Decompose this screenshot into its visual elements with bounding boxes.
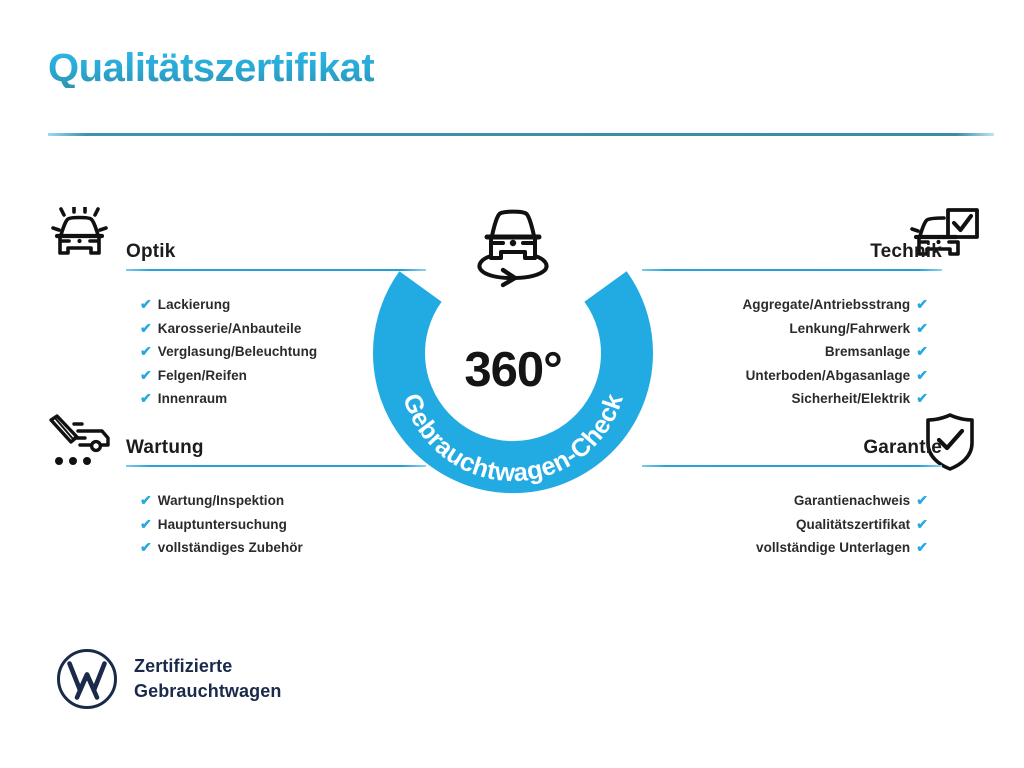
list-item-label: Karosserie/Anbauteile	[158, 321, 302, 336]
section-technik: Technik Aggregate/Antriebsstrang✔ Lenkun…	[642, 239, 942, 411]
list-item-label: Wartung/Inspektion	[158, 493, 284, 508]
vw-wordmark-line1: Zertifizierte	[134, 654, 281, 679]
vw-brand-logo: Zertifizierte Gebrauchtwagen	[56, 648, 281, 710]
list-item: Lenkung/Fahrwerk✔	[642, 317, 942, 341]
section-garantie-list: Garantienachweis✔ Qualitätszertifikat✔ v…	[642, 489, 942, 560]
center-badge: Gebrauchtwagen-Check 360°	[372, 196, 654, 496]
list-item-label: Aggregate/Antriebsstrang	[742, 297, 910, 312]
list-item-label: Verglasung/Beleuchtung	[158, 344, 317, 359]
check-icon: ✔	[140, 536, 152, 560]
check-icon: ✔	[916, 317, 928, 341]
section-technik-list: Aggregate/Antriebsstrang✔ Lenkung/Fahrwe…	[642, 293, 942, 411]
list-item-label: Innenraum	[158, 391, 227, 406]
list-item-label: Lackierung	[158, 297, 231, 312]
list-item: Unterboden/Abgasanlage✔	[642, 364, 942, 388]
page-title: Qualitätszertifikat	[48, 48, 374, 88]
list-item: Garantienachweis✔	[642, 489, 942, 513]
list-item: vollständige Unterlagen✔	[642, 536, 942, 560]
list-item: Aggregate/Antriebsstrang✔	[642, 293, 942, 317]
title-divider	[48, 133, 994, 136]
check-icon: ✔	[916, 489, 928, 513]
vw-wordmark: Zertifizierte Gebrauchtwagen	[134, 654, 281, 704]
check-icon: ✔	[916, 513, 928, 537]
list-item-label: Bremsanlage	[825, 344, 910, 359]
section-garantie-divider	[642, 465, 942, 467]
vw-wordmark-line2: Gebrauchtwagen	[134, 679, 281, 704]
section-wartung-list: ✔Wartung/Inspektion ✔Hauptuntersuchung ✔…	[126, 489, 426, 560]
check-icon: ✔	[140, 340, 152, 364]
check-icon: ✔	[916, 536, 928, 560]
list-item: Bremsanlage✔	[642, 340, 942, 364]
list-item: Sicherheit/Elektrik✔	[642, 387, 942, 411]
check-icon: ✔	[140, 364, 152, 388]
badge-value: 360°	[372, 346, 654, 395]
check-icon: ✔	[916, 340, 928, 364]
section-garantie: Garantie Garantienachweis✔ Qualitätszert…	[642, 435, 942, 560]
vw-logo-icon	[56, 648, 118, 710]
check-icon: ✔	[140, 513, 152, 537]
list-item: Qualitätszertifikat✔	[642, 513, 942, 537]
car-oil-service-icon	[44, 412, 116, 476]
list-item-label: vollständiges Zubehör	[158, 540, 303, 555]
check-icon: ✔	[140, 293, 152, 317]
list-item-label: Qualitätszertifikat	[796, 517, 910, 532]
car-rotation-icon	[465, 196, 561, 288]
list-item: ✔vollständiges Zubehör	[126, 536, 426, 560]
check-icon: ✔	[916, 387, 928, 411]
list-item-label: Sicherheit/Elektrik	[791, 391, 910, 406]
list-item-label: Hauptuntersuchung	[158, 517, 287, 532]
list-item-label: Garantienachweis	[794, 493, 910, 508]
list-item: ✔Hauptuntersuchung	[126, 513, 426, 537]
section-technik-title: Technik	[642, 239, 942, 265]
list-item-label: Lenkung/Fahrwerk	[789, 321, 910, 336]
list-item-label: Felgen/Reifen	[158, 368, 247, 383]
list-item-label: Unterboden/Abgasanlage	[746, 368, 911, 383]
check-icon: ✔	[140, 317, 152, 341]
check-icon: ✔	[916, 293, 928, 317]
section-technik-header: Technik	[642, 239, 942, 279]
sparkling-car-front-icon	[44, 207, 116, 271]
check-icon: ✔	[916, 364, 928, 388]
list-item-label: vollständige Unterlagen	[756, 540, 910, 555]
section-garantie-header: Garantie	[642, 435, 942, 475]
section-technik-divider	[642, 269, 942, 271]
check-icon: ✔	[140, 387, 152, 411]
section-garantie-title: Garantie	[642, 435, 942, 461]
check-icon: ✔	[140, 489, 152, 513]
